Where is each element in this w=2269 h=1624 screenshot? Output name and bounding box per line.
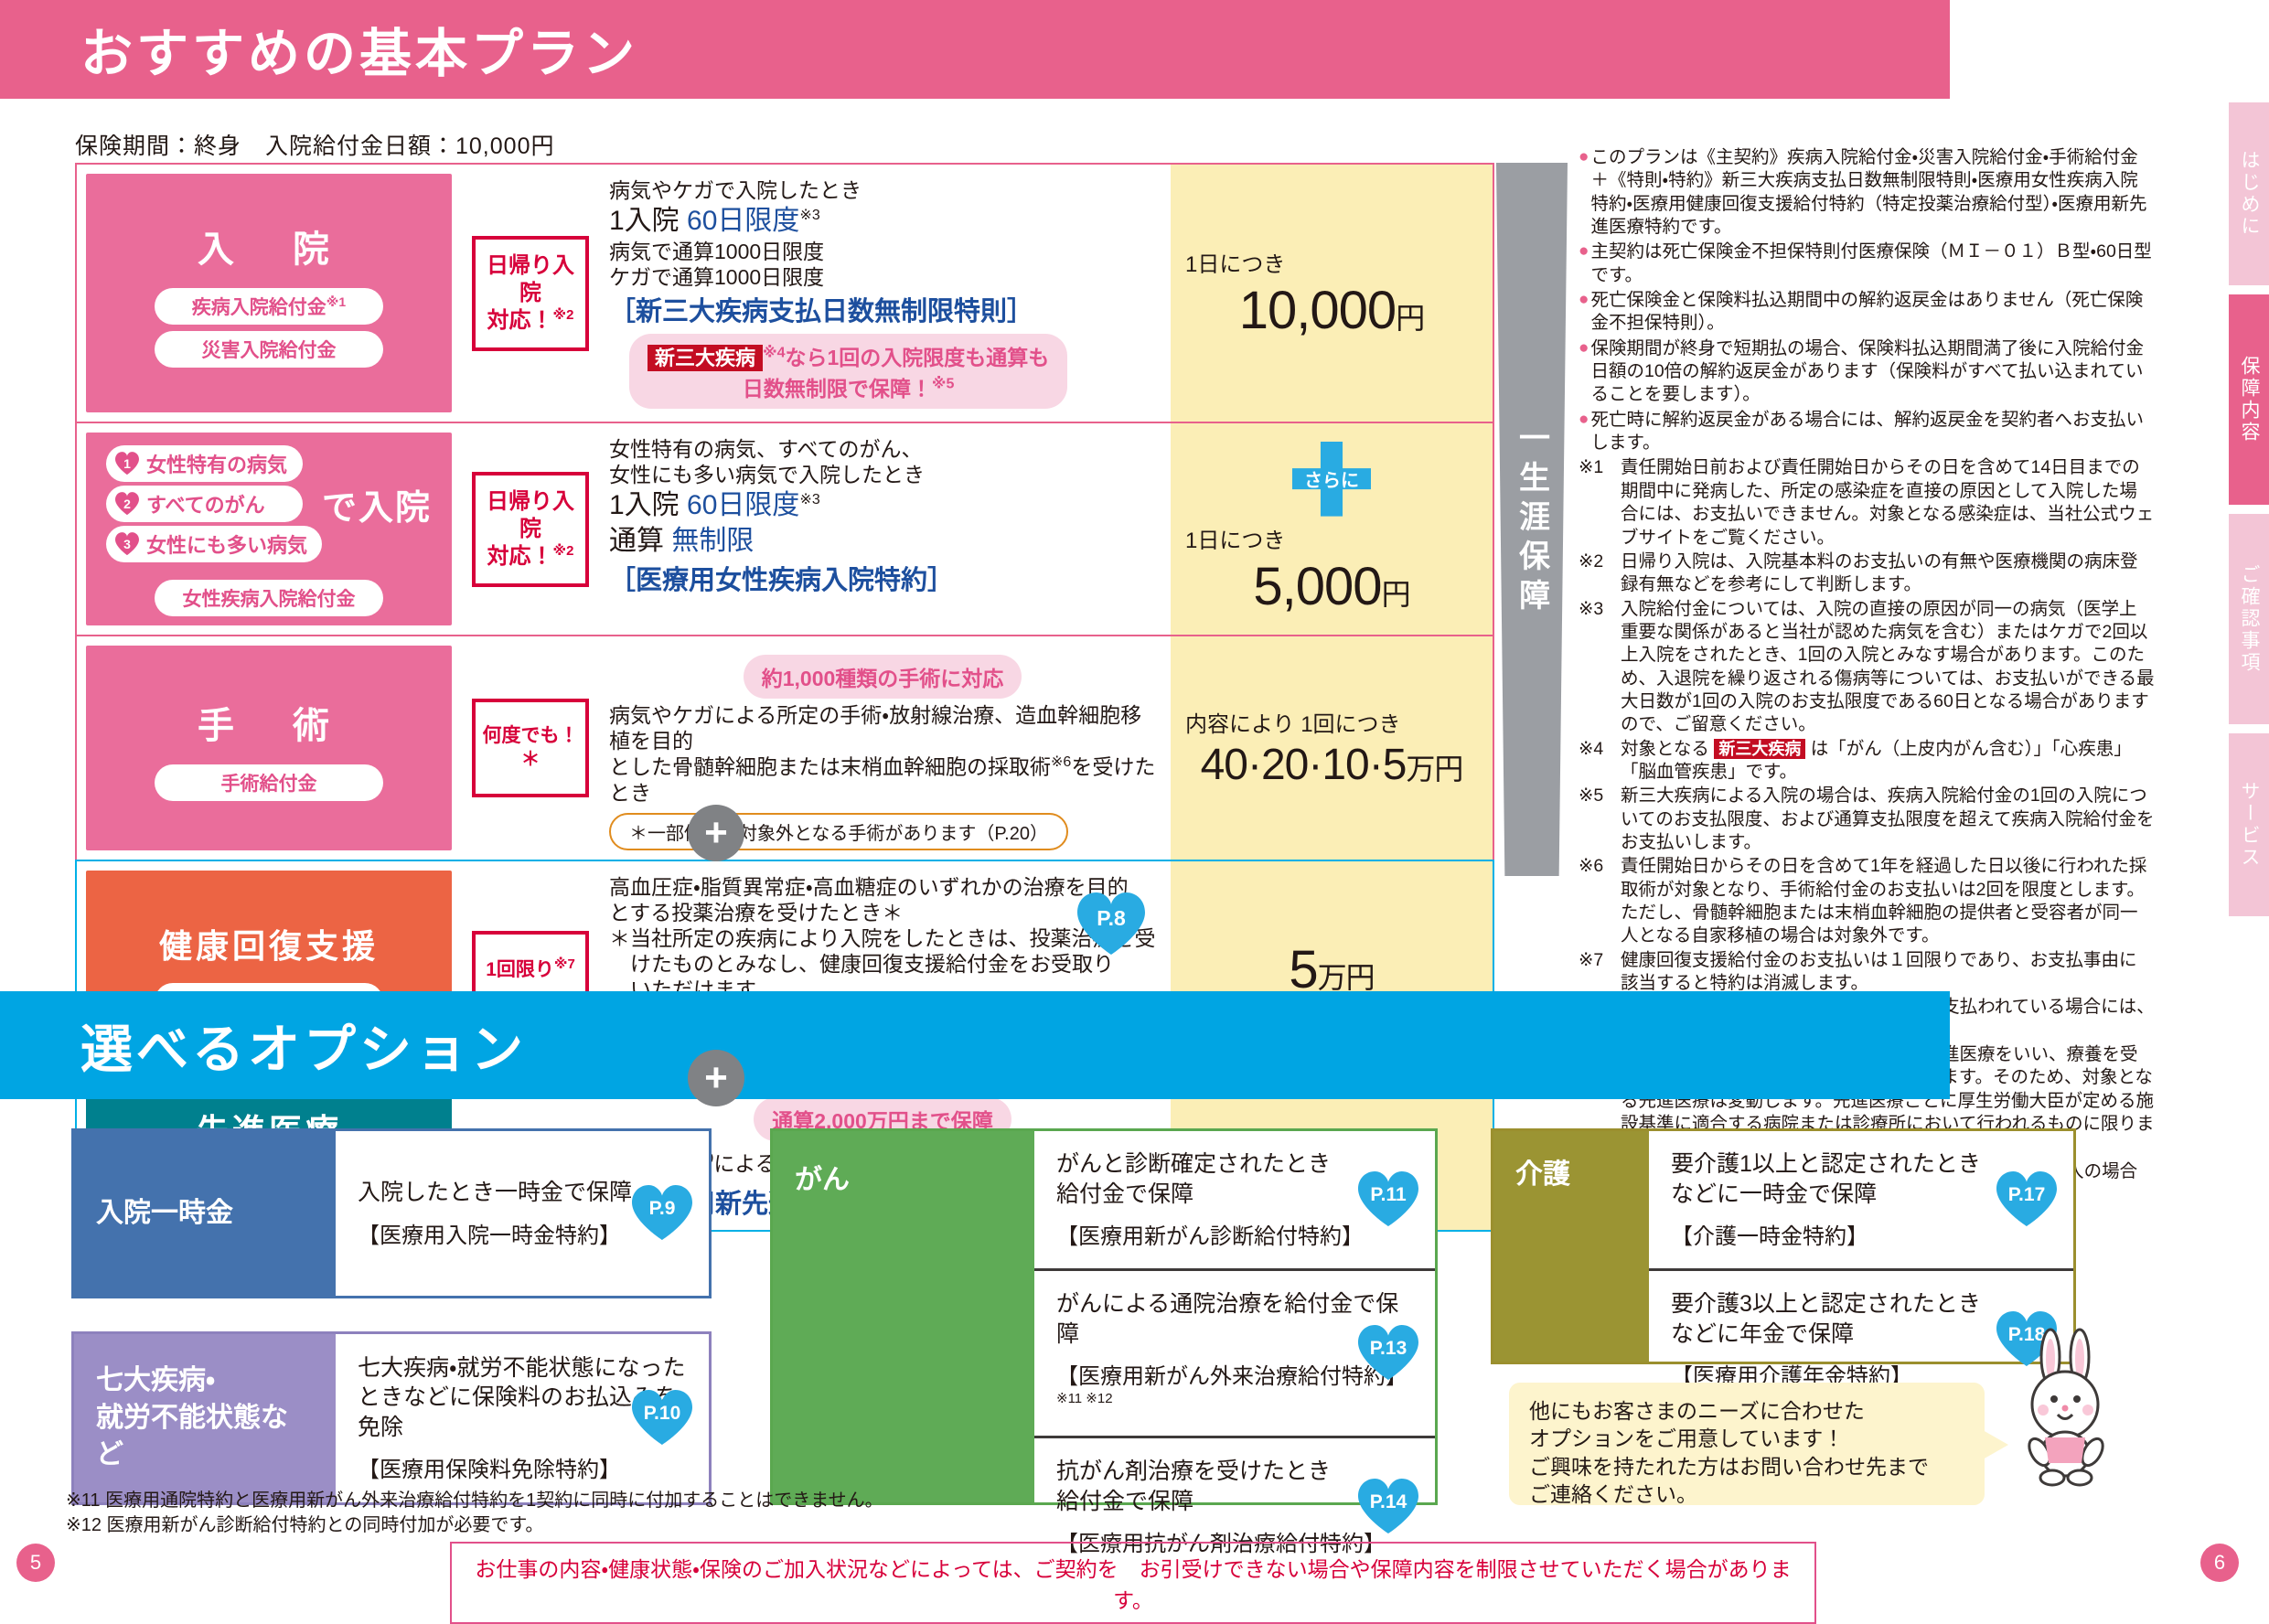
speech-bubble: 他にもお客さまのニーズに合わせたオプションをご用意しています！ご興味を持たれた方…: [1509, 1383, 1985, 1505]
amount-cell: 1日につき 10,000円: [1171, 165, 1493, 422]
benefit-pill: 手術給付金: [155, 764, 383, 801]
category-box-surgery: 手 術 手術給付金: [86, 646, 452, 850]
option-body: がんと診断確定されたとき給付金で保障 【医療用新がん診断給付特約】 P.11 が…: [1034, 1131, 1435, 1502]
desc-lead: 病気やケガで入院したとき: [609, 177, 1156, 203]
option-footnotes: ※11 医療用通院特約と医療用新がん外来治療給付特約を1契約に同時に付加すること…: [66, 1489, 883, 1538]
description-cell: 女性特有の病気、すべてのがん、 女性にも多い病気で入院したとき 1入院 60日限…: [600, 423, 1171, 635]
option-row: がんと診断確定されたとき給付金で保障 【医療用新がん診断給付特約】 P.11: [1034, 1131, 1435, 1268]
amount-cell: さらに 1日につき 5,000円: [1171, 423, 1493, 635]
bullet-icon: ●: [1579, 409, 1589, 455]
bullet-icon: ●: [1579, 289, 1589, 336]
heart-number-icon: 2: [115, 492, 139, 516]
option-row: 要介護1以上と認定されたときなどに一時金で保障 【介護一時金特約】 P.17: [1649, 1131, 2073, 1268]
daytrip-badge: 日帰り入院対応！※2: [472, 472, 589, 587]
plan-header-band: おすすめの基本プラン: [0, 0, 1950, 99]
option-rider: 【医療用保険料免除特約】: [358, 1451, 687, 1483]
note-bullet: ●保険期間が終身で短期払の場合、保険料払込期間満了後に入院給付金日額の10倍の解…: [1579, 337, 2155, 407]
badge-cell: 日帰り入院対応！※2: [461, 423, 600, 635]
desc-limit: 1入院 60日限度※3: [609, 487, 1156, 523]
desc-rider: ［新三大疾病支払日数無制限特則］: [609, 290, 1156, 328]
note-bullet: ●このプランは《主契約》疾病入院給付金・災害入院給付金・手術給付金＋《特則・特約…: [1579, 146, 2155, 239]
badge-cell: 何度でも！＊: [461, 636, 600, 860]
option-row: 七大疾病・就労不能状態になったときなどに保険料のお払込みを免除 【医療用保険料免…: [336, 1334, 709, 1502]
category-cell: 入 院 疾病入院給付金※1 災害入院給付金: [77, 165, 461, 422]
page-number-right: 6: [2200, 1544, 2239, 1582]
option-card-hospitalization-lumpsum[interactable]: 入院一時金 入院したとき一時金で保障 【医療用入院一時金特約】 P.9: [71, 1128, 712, 1298]
category-cell: 1女性特有の病気 2すべてのがん 3女性にも多い病気 で入院 女性疾病入院給付金: [77, 423, 461, 635]
policy-meta: 保険期間：終身 入院給付金日額：10,000円: [75, 128, 554, 161]
bullet-icon: ●: [1579, 337, 1589, 407]
option-text: 要介護3以上と認定されたときなどに年金で保障: [1671, 1289, 2051, 1349]
category-box-womens: 1女性特有の病気 2すべてのがん 3女性にも多い病気 で入院 女性疾病入院給付金: [86, 433, 452, 625]
plus-connector-icon: +: [688, 805, 744, 861]
desc-line2: とした骨髄幹細胞または末梢血幹細胞の採取術※6を受けたとき: [609, 753, 1156, 806]
note-bullet: ●死亡時に解約返戻金がある場合には、解約返戻金を契約者へお支払いします。: [1579, 409, 2155, 455]
amount-value: 5,000円: [1185, 556, 1478, 617]
note-numbered: ※1責任開始日前および責任開始日からその日を含めて14日目までの期間中に発病した…: [1579, 456, 2155, 549]
bottom-disclaimer: お仕事の内容・健康状態・保険のご加入状況などによっては、ご契約を お引受けできな…: [450, 1542, 1816, 1624]
note-numbered: ※7健康回復支援給付金のお支払いは１回限りであり、お支払事由に該当すると特約は消…: [1579, 949, 2155, 996]
option-label: 介護: [1493, 1131, 1649, 1362]
note-numbered: ※6責任開始日からその日を含めて1年を経過した日以後に行われた採取術が対象となり…: [1579, 855, 2155, 947]
sarani-cross-icon: さらに: [1292, 442, 1371, 517]
option-header-band: 選べるオプション: [0, 991, 1950, 1099]
desc-lead2: 女性にも多い病気で入院したとき: [609, 462, 1156, 487]
amount-cell: 内容により 1回につき 40·20·10·5万円: [1171, 636, 1493, 860]
category-cell: 手 術 手術給付金: [77, 636, 461, 860]
surgery-types-banner: 約1,000種類の手術に対応: [744, 655, 1022, 699]
benefit-pill: 災害入院給付金: [155, 331, 383, 368]
plan-row-womens-disease: 1女性特有の病気 2すべてのがん 3女性にも多い病気 で入院 女性疾病入院給付金…: [75, 422, 1494, 635]
description-cell: 病気やケガで入院したとき 1入院 60日限度※3 病気で通算1000日限度 ケガ…: [600, 165, 1171, 422]
desc-line4: けたものとみなし、健康回復支援給付金をお受取り: [609, 951, 1156, 977]
desc-line1: 病気やケガによる所定の手術・放射線治療、造血幹細胞移植を目的: [609, 702, 1156, 753]
frequency-badge: 何度でも！＊: [472, 699, 589, 798]
callout-banner: 新三大疾病※4なら1回の入院限度も通算も 日数無制限で保障！※5: [629, 334, 1067, 409]
benefit-pill: 女性疾病入院給付金: [155, 580, 383, 616]
page-title: おすすめの基本プラン: [80, 12, 638, 87]
page-reference-heart-icon[interactable]: P.8: [1077, 892, 1145, 956]
note-numbered: ※5新三大疾病による入院の場合は、疾病入院給付金の1回の入院についてのお支払限度…: [1579, 785, 2155, 854]
desc-sub2: ケガで通算1000日限度: [609, 264, 1156, 290]
note-numbered: ※2日帰り入院は、入院基本料のお支払いの有無や医療機関の病床登録有無などを参考に…: [1579, 550, 2155, 597]
bullet-icon: ●: [1579, 146, 1589, 239]
side-tab-hosho[interactable]: 保障内容: [2229, 294, 2269, 505]
side-tab-service[interactable]: サービス: [2229, 733, 2269, 916]
plan-row-surgery: 手 術 手術給付金 何度でも！＊ 約1,000種類の手術に対応 病気やケガによる…: [75, 635, 1494, 861]
note-numbered: ※3入院給付金については、入院の直接の原因が同一の病気（医学上重要な関係があると…: [1579, 598, 2155, 737]
desc-lead1: 女性特有の病気、すべてのがん、: [609, 436, 1156, 462]
badge-cell: 日帰り入院対応！※2: [461, 165, 600, 422]
plus-connector-icon: +: [688, 1050, 744, 1106]
category-box-hospitalization: 入 院 疾病入院給付金※1 災害入院給付金: [86, 174, 452, 412]
category-title: 手 術: [198, 696, 340, 749]
desc-sub1: 病気で通算1000日限度: [609, 239, 1156, 264]
option-title: 選べるオプション: [80, 1008, 527, 1083]
option-row: 入院したとき一時金で保障 【医療用入院一時金特約】 P.9: [336, 1131, 709, 1296]
note-bullet: ●死亡保険金と保険料払込期間中の解約返戻金はありません（死亡保険金不担保特則）。: [1579, 289, 2155, 336]
page-number-left: 5: [16, 1544, 55, 1582]
brochure-page: おすすめの基本プラン 保険期間：終身 入院給付金日額：10,000円 入 院 疾…: [0, 0, 2269, 1604]
desc-line3: ＊当社所定の疾病により入院をしたときは、投薬治療を受: [609, 925, 1156, 951]
side-tabs: はじめに 保障内容 ご確認事項 サービス: [2229, 102, 2269, 925]
options-section: 入院一時金 入院したとき一時金で保障 【医療用入院一時金特約】 P.9 七大疾病…: [0, 1112, 1950, 1505]
heart-item: 2すべてのがん: [106, 486, 322, 522]
option-card-seven-diseases[interactable]: 七大疾病・就労不能状態など 七大疾病・就労不能状態になったときなどに保険料のお払…: [71, 1331, 712, 1505]
heart-number-icon: 3: [115, 532, 139, 556]
option-body: 七大疾病・就労不能状態になったときなどに保険料のお払込みを免除 【医療用保険料免…: [336, 1334, 709, 1502]
option-card-cancer[interactable]: がん がんと診断確定されたとき給付金で保障 【医療用新がん診断給付特約】 P.1…: [770, 1128, 1438, 1505]
footnote: ※11 医療用通院特約と医療用新がん外来治療給付特約を1契約に同時に付加すること…: [66, 1489, 883, 1513]
page-reference-heart-icon[interactable]: P.14: [1358, 1479, 1418, 1535]
page-reference-heart-icon[interactable]: P.10: [632, 1390, 692, 1447]
side-tab-kakunin[interactable]: ご確認事項: [2229, 514, 2269, 724]
plan-row-hospitalization: 入 院 疾病入院給付金※1 災害入院給付金 日帰り入院対応！※2 病気やケガで入…: [75, 163, 1494, 422]
heart-item: 1女性特有の病気: [106, 445, 322, 482]
bullet-icon: ●: [1579, 240, 1589, 287]
daytrip-badge: 日帰り入院対応！※2: [472, 236, 589, 351]
option-rider: 【介護一時金特約】: [1671, 1218, 2051, 1250]
amount-label: 内容により 1回につき: [1185, 706, 1478, 738]
three-disease-tag: 新三大疾病: [1714, 739, 1805, 759]
note-numbered: ※4対象となる 新三大疾病 は「がん（上皮内がん含む）」「心疾患」「脳血管疾患」…: [1579, 738, 2155, 785]
desc-total-limit: 通算 無制限: [609, 523, 1156, 559]
option-text: 要介護1以上と認定されたときなどに一時金で保障: [1671, 1149, 2051, 1209]
desc-rider: ［医療用女性疾病入院特約］: [609, 559, 1156, 597]
desc-line1: 高血圧症・脂質異常症・高血糖症のいずれかの治療を目的: [609, 874, 1156, 900]
page-reference-heart-icon[interactable]: P.9: [632, 1185, 692, 1242]
description-cell: 約1,000種類の手術に対応 病気やケガによる所定の手術・放射線治療、造血幹細胞…: [600, 636, 1171, 860]
rabbit-mascot-icon: [2003, 1326, 2140, 1490]
side-tab-hajimeni[interactable]: はじめに: [2229, 102, 2269, 285]
category-title: 入 院: [198, 219, 340, 272]
benefit-pill: 疾病入院給付金※1: [155, 288, 383, 325]
heart-number-icon: 1: [115, 452, 139, 475]
option-row: がんによる通院治療を給付金で保障 【医療用新がん外来治療給付特約】※11 ※12…: [1034, 1268, 1435, 1436]
page-reference-heart-icon[interactable]: P.11: [1358, 1171, 1418, 1228]
page-reference-heart-icon[interactable]: P.13: [1358, 1325, 1418, 1382]
surgery-exception-note: ＊一部例外や対象外となる手術があります（P.20）: [609, 813, 1068, 850]
option-label: 七大疾病・就労不能状態など: [74, 1334, 336, 1502]
amount-value: 40·20·10·5万円: [1185, 740, 1478, 790]
amount-label: 1日につき: [1185, 246, 1478, 278]
page-reference-heart-icon[interactable]: P.17: [1996, 1171, 2057, 1228]
option-card-nursing-care[interactable]: 介護 要介護1以上と認定されたときなどに一時金で保障 【介護一時金特約】 P.1…: [1491, 1128, 2076, 1364]
desc-limit: 1入院 60日限度※3: [609, 203, 1156, 239]
option-body: 入院したとき一時金で保障 【医療用入院一時金特約】 P.9: [336, 1131, 709, 1296]
note-bullet: ●主契約は死亡保険金不担保特則付医療保険（ＭＩ－０１）Ｂ型・60日型です。: [1579, 240, 2155, 287]
three-disease-tag: 新三大疾病: [648, 345, 763, 371]
amount-value: 10,000円: [1185, 280, 1478, 341]
lifetime-coverage-ribbon: 一生涯保障: [1496, 163, 1568, 876]
desc-line2: とする投薬治療を受けたとき＊: [609, 900, 1156, 925]
option-label: 入院一時金: [74, 1131, 336, 1296]
option-label: がん: [773, 1131, 1034, 1502]
amount-label: 1日につき: [1185, 522, 1478, 554]
heart-item: 3女性にも多い病気: [106, 526, 322, 562]
footnote: ※12 医療用新がん診断給付特約との同時付加が必要です。: [66, 1513, 883, 1538]
category-title: 健康回復支援: [159, 920, 379, 967]
category-suffix: で入院: [322, 479, 432, 529]
